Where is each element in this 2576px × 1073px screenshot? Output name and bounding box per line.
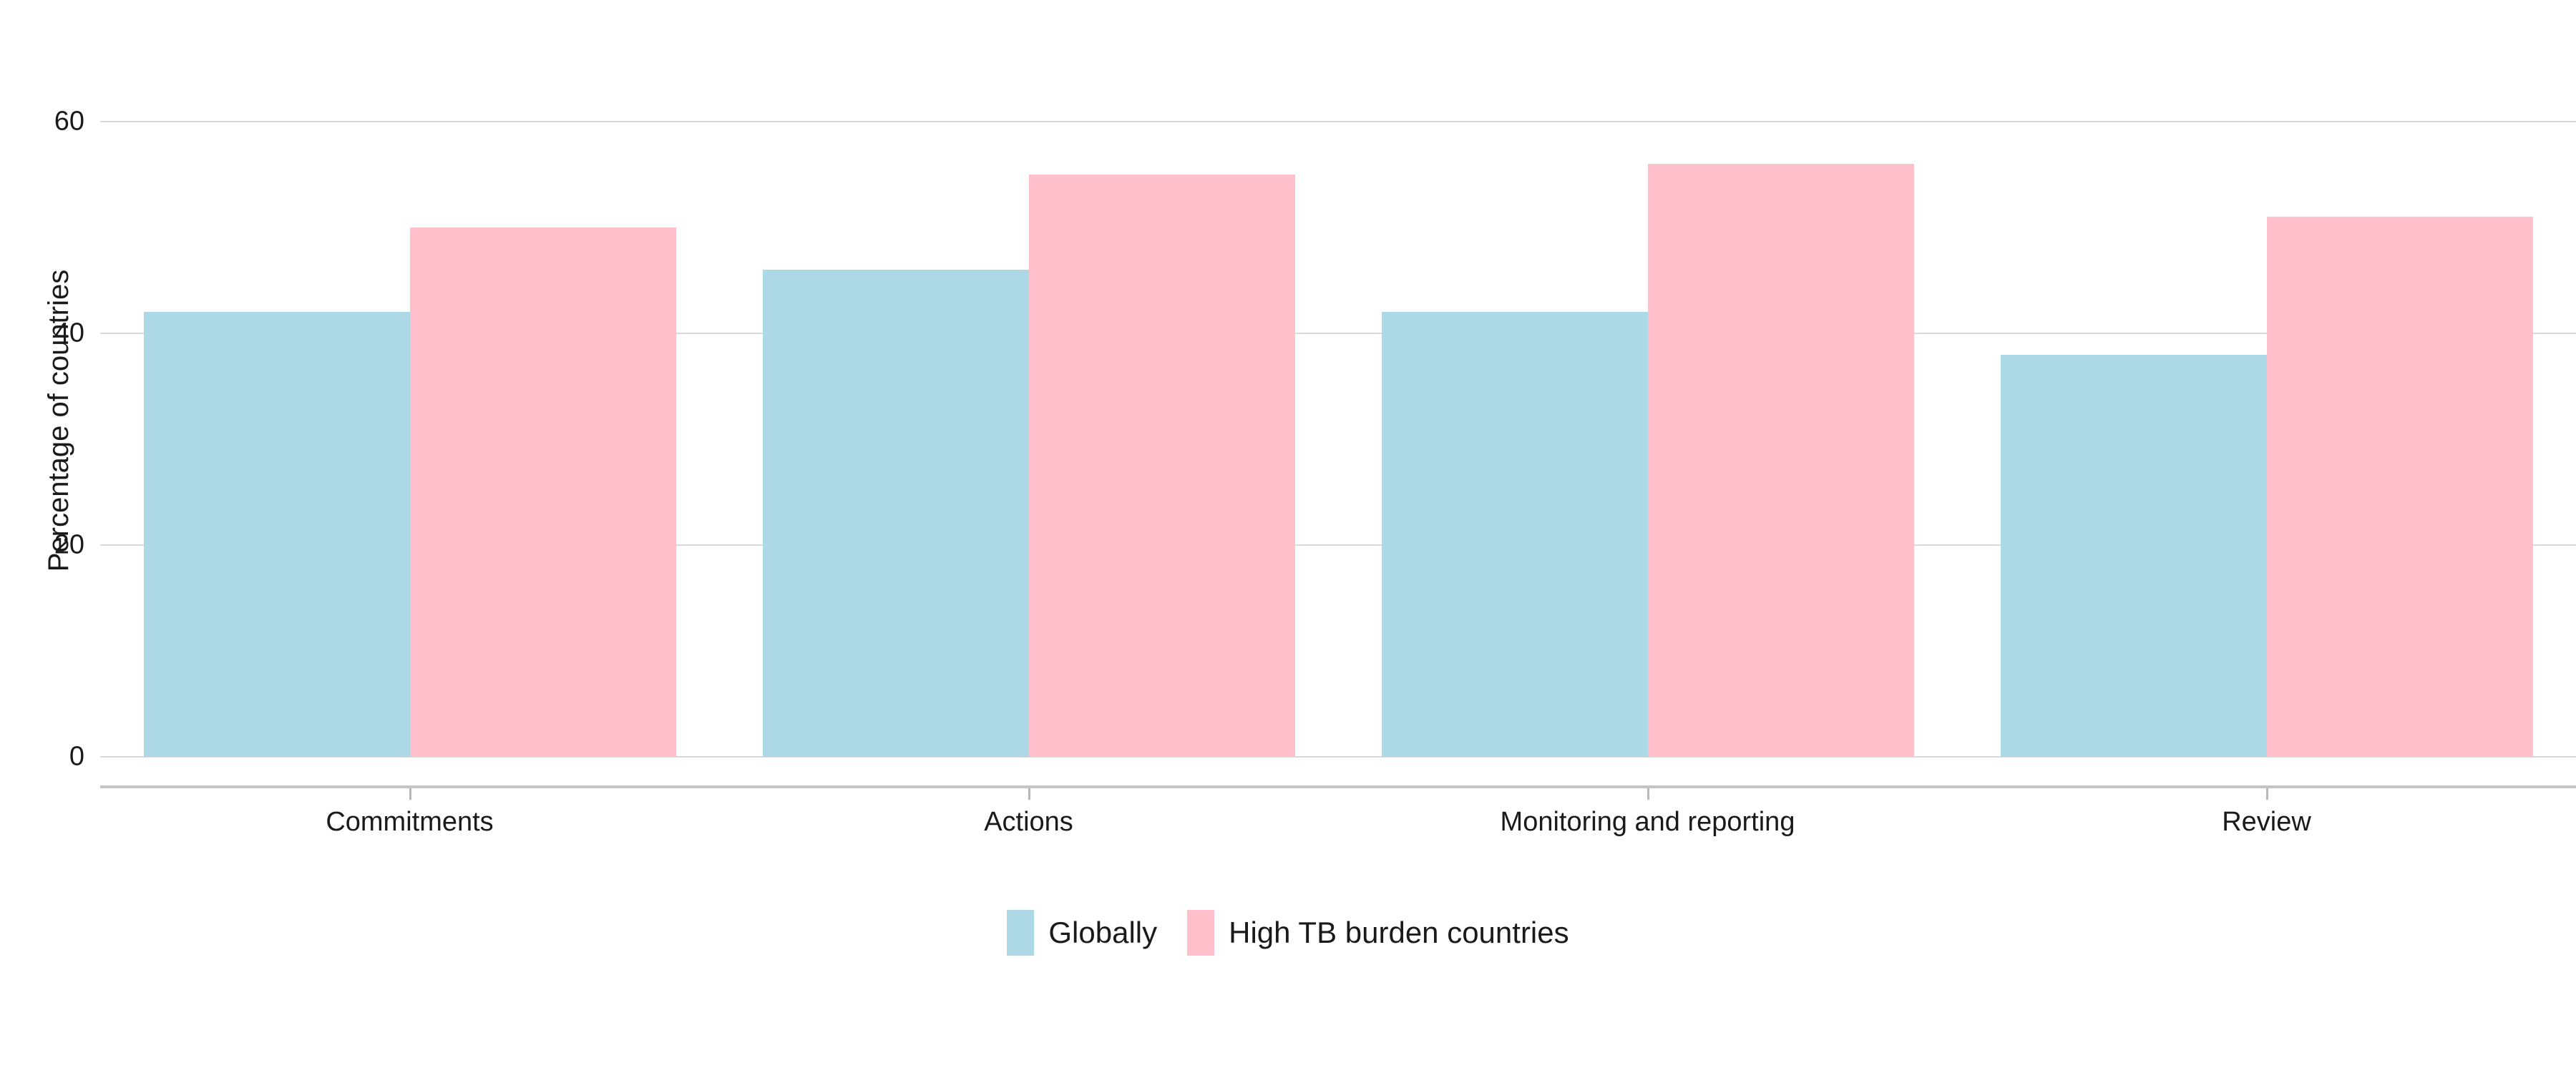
x-tick-mark [1647, 788, 1649, 800]
gridline-y-60 [100, 121, 2576, 122]
bar-commitments-high-tb-burden-countries [410, 227, 676, 757]
legend-label: High TB burden countries [1229, 918, 1569, 948]
legend-item-high-tb-burden-countries[interactable]: High TB burden countries [1187, 910, 1569, 956]
bar-actions-high-tb-burden-countries [1029, 175, 1295, 757]
bar-review-globally [2001, 355, 2267, 757]
bar-monitoring-and-reporting-globally [1382, 312, 1648, 757]
legend-swatch-icon [1187, 910, 1214, 956]
legend-swatch-icon [1007, 910, 1034, 956]
x-tick-mark [2266, 788, 2268, 800]
y-tick-label: 20 [6, 530, 84, 561]
chart-legend: GloballyHigh TB burden countries [0, 910, 2576, 956]
bar-chart-figure: Percentage of countries 6040200 Globally… [0, 0, 2576, 1073]
legend-item-globally[interactable]: Globally [1007, 910, 1157, 956]
legend-label: Globally [1048, 918, 1157, 948]
x-tick-mark [1028, 788, 1030, 800]
plot-area [100, 0, 2576, 787]
y-axis-tick-labels: 6040200 [0, 0, 84, 787]
x-tick-label-review: Review [2222, 807, 2311, 838]
x-tick-label-commitments: Commitments [326, 807, 493, 838]
bar-actions-globally [763, 270, 1029, 757]
x-tick-label-monitoring-and-reporting: Monitoring and reporting [1501, 807, 1795, 838]
y-tick-label: 60 [6, 107, 84, 137]
y-tick-label: 0 [6, 742, 84, 773]
bar-monitoring-and-reporting-high-tb-burden-countries [1648, 164, 1914, 757]
bar-review-high-tb-burden-countries [2267, 217, 2533, 757]
y-tick-label: 40 [6, 318, 84, 349]
bar-commitments-globally [144, 312, 410, 757]
x-tick-label-actions: Actions [984, 807, 1073, 838]
x-axis-line [100, 785, 2576, 788]
x-tick-mark [409, 788, 411, 800]
